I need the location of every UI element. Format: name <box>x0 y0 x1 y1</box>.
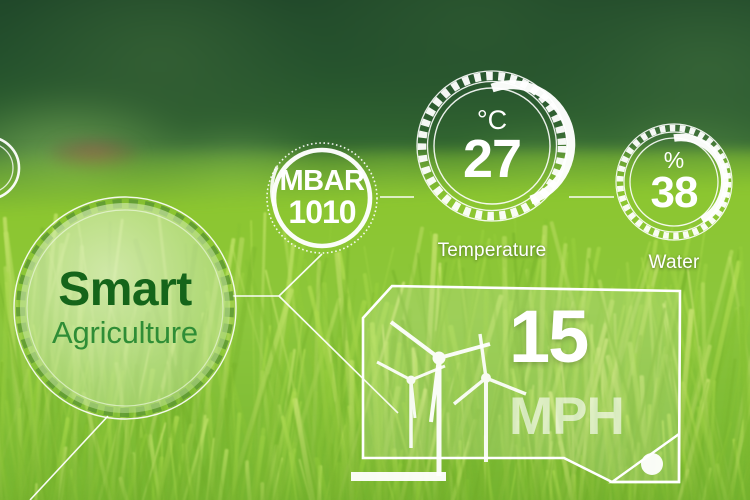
wind-panel-bottom-bar <box>351 472 446 481</box>
brand-primary: Smart <box>58 266 192 314</box>
wind-speed-panel[interactable]: 15 MPH <box>359 282 684 487</box>
temperature-caption: Temperature <box>412 240 572 262</box>
wind-speed-unit: MPH <box>509 390 679 443</box>
water-value: 38 <box>651 171 698 215</box>
pressure-unit: MBAR <box>280 167 365 196</box>
smart-agriculture-dashboard: Smart Agriculture MBAR 1010 °C 27 Temper… <box>0 0 750 500</box>
brand-secondary: Agriculture <box>52 316 198 350</box>
pressure-value: 1010 <box>288 196 355 230</box>
badge-text: Smart Agriculture <box>6 189 244 427</box>
temperature-gauge[interactable]: °C 27 <box>412 66 572 226</box>
smart-agriculture-badge[interactable]: Smart Agriculture <box>6 189 244 427</box>
wind-panel-indicator-dot <box>641 453 663 475</box>
water-readout: % 38 <box>612 120 736 244</box>
pressure-gauge[interactable]: MBAR 1010 <box>264 140 380 256</box>
pressure-readout: MBAR 1010 <box>264 140 380 256</box>
wind-speed-value: 15 <box>509 302 679 372</box>
temperature-value: 27 <box>463 132 521 186</box>
water-gauge[interactable]: % 38 <box>612 120 736 244</box>
temperature-readout: °C 27 <box>412 66 572 226</box>
water-caption: Water <box>612 252 736 274</box>
wind-readout: 15 MPH <box>509 302 679 443</box>
offscreen-gauge-partial <box>0 133 30 203</box>
